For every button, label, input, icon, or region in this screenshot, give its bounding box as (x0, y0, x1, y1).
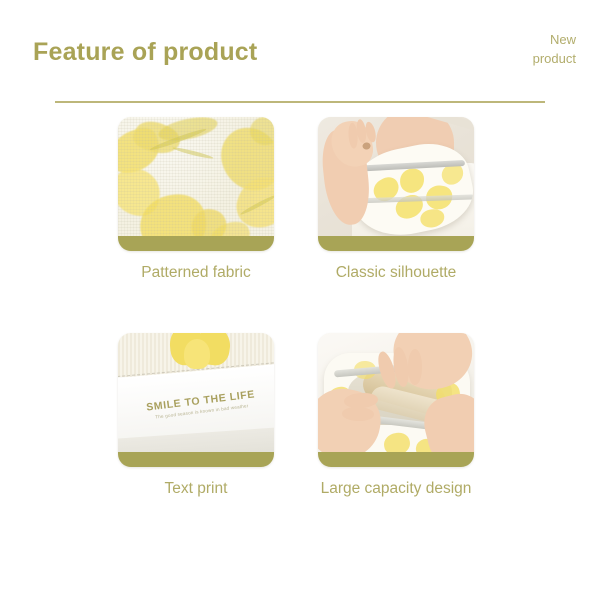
new-product-badge-line1: New (456, 30, 576, 49)
flower-petal-icon (420, 209, 445, 229)
feature-caption: Large capacity design (318, 480, 474, 498)
feature-row: SMILE TO THE LIFE The good season is kno… (0, 333, 600, 549)
feature-caption: Text print (118, 480, 274, 498)
page-title: Feature of product (33, 38, 257, 67)
printed-label-image: SMILE TO THE LIFE The good season is kno… (118, 333, 274, 453)
text-print-photo: SMILE TO THE LIFE The good season is kno… (118, 333, 274, 453)
model-fingernail (362, 142, 371, 150)
fabric-texture-overlay (118, 117, 274, 237)
feature-cell-text-print[interactable]: SMILE TO THE LIFE The good season is kno… (118, 333, 274, 498)
open-pouch-image (318, 333, 474, 453)
header-divider (55, 101, 545, 103)
page-header: Feature of product New product (0, 0, 600, 92)
fabric-swatch-image (118, 117, 274, 237)
tile-accent-bar (318, 452, 474, 467)
new-product-badge-line2: product (456, 49, 576, 68)
new-product-badge: New product (456, 30, 576, 68)
feature-cell-patterned-fabric[interactable]: Patterned fabric (118, 117, 274, 282)
flower-petal-icon (400, 168, 425, 193)
feature-tile[interactable] (318, 117, 474, 251)
feature-row: Patterned fabric (0, 117, 600, 333)
model-holding-pouch-image (318, 117, 474, 237)
flower-petal-icon (184, 339, 210, 369)
feature-caption: Patterned fabric (118, 264, 274, 282)
feature-tile[interactable]: SMILE TO THE LIFE The good season is kno… (118, 333, 274, 467)
feature-grid: Patterned fabric (0, 117, 600, 549)
feature-cell-large-capacity[interactable]: Large capacity design (318, 333, 474, 498)
tile-accent-bar (118, 236, 274, 251)
flower-petal-icon (383, 431, 412, 453)
product-feature-page: Feature of product New product (0, 0, 600, 600)
large-capacity-photo (318, 333, 474, 453)
feature-cell-classic-silhouette[interactable]: Classic silhouette (318, 117, 474, 282)
feature-caption: Classic silhouette (318, 264, 474, 282)
tile-accent-bar (118, 452, 274, 467)
tile-accent-bar (318, 236, 474, 251)
feature-tile[interactable] (118, 117, 274, 251)
model-finger (408, 349, 422, 385)
feature-tile[interactable] (318, 333, 474, 467)
classic-silhouette-photo (318, 117, 474, 237)
patterned-fabric-photo (118, 117, 274, 237)
